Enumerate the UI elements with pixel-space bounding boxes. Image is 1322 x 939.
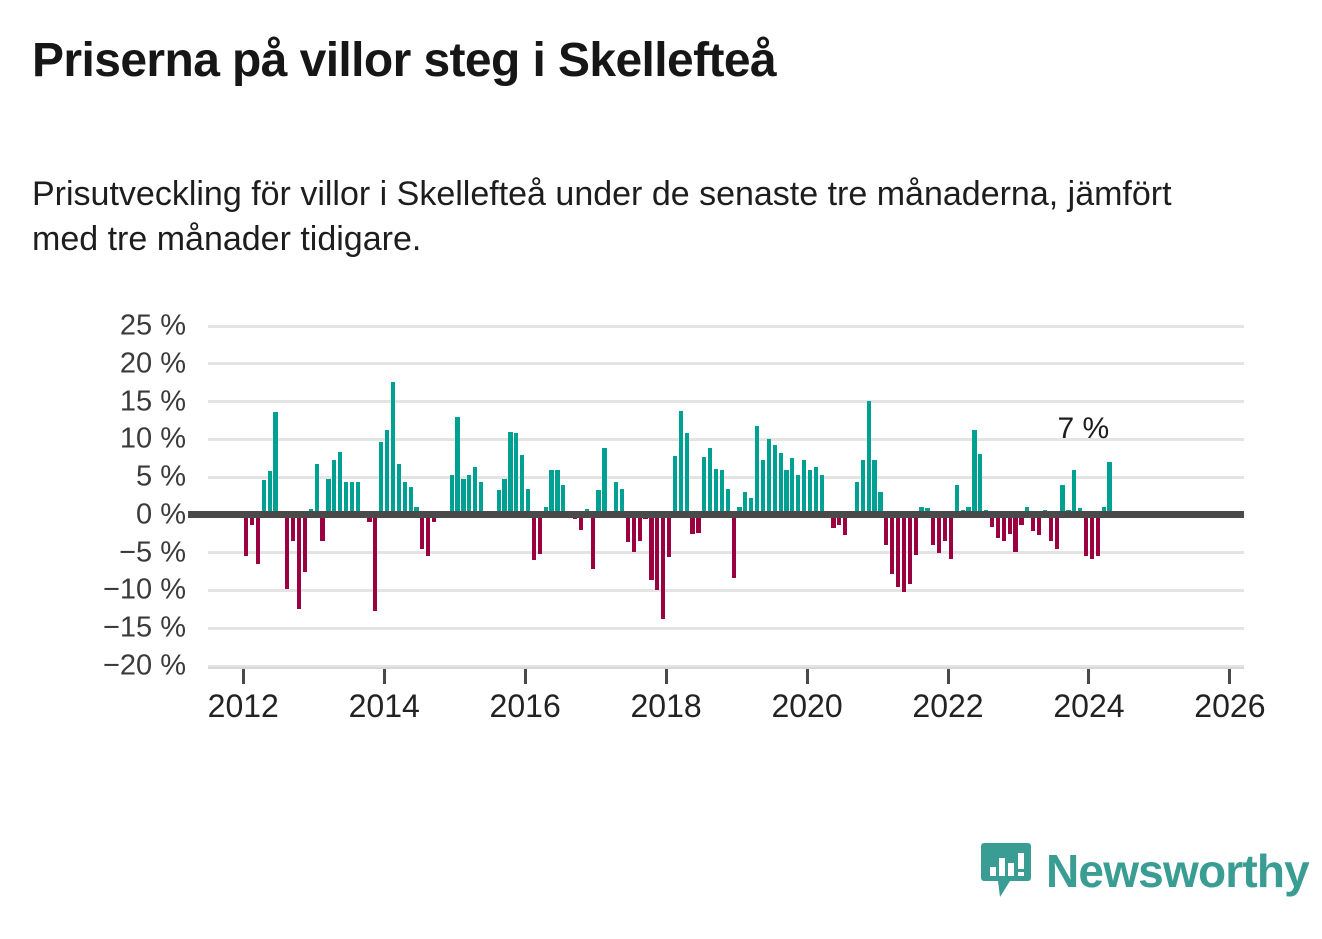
- bar: [420, 515, 424, 549]
- bar: [502, 479, 506, 515]
- x-axis-tick-label: 2026: [1194, 688, 1265, 725]
- bar: [702, 457, 706, 514]
- bar: [403, 482, 407, 514]
- bar: [555, 470, 559, 515]
- bar: [332, 460, 336, 515]
- page-subtitle: Prisutveckling för villor i Skellefteå u…: [32, 172, 1242, 262]
- bar: [450, 475, 454, 515]
- bar: [790, 458, 794, 515]
- bar: [808, 470, 812, 515]
- y-axis-tick-label: −5 %: [0, 536, 186, 569]
- bar: [820, 475, 824, 515]
- page-title: Priserna på villor steg i Skellefteå: [32, 34, 1272, 88]
- bar: [673, 456, 677, 515]
- x-axis-tick-label: 2022: [912, 688, 983, 725]
- bar: [649, 515, 653, 580]
- x-axis-tick: [947, 669, 950, 684]
- x-axis-labels: 20122014201620182020202220242026: [208, 688, 1244, 738]
- bar: [902, 515, 906, 592]
- x-axis-tick: [1087, 669, 1090, 684]
- y-axis-tick-label: 25 %: [0, 310, 186, 343]
- bar: [949, 515, 953, 559]
- bar: [520, 455, 524, 515]
- bar: [861, 460, 865, 514]
- bar: [943, 515, 947, 541]
- bar: [784, 470, 788, 515]
- bar: [291, 515, 295, 541]
- bar: [1049, 515, 1053, 541]
- bar: [1060, 485, 1064, 515]
- bar: [602, 448, 606, 515]
- bar: [972, 430, 976, 515]
- bar: [338, 452, 342, 515]
- bar: [931, 515, 935, 545]
- x-axis-tick: [665, 669, 668, 684]
- bar: [549, 470, 553, 515]
- bar: [479, 482, 483, 515]
- x-axis-tick-label: 2012: [208, 688, 279, 725]
- bar: [514, 433, 518, 515]
- bar: [1096, 515, 1100, 556]
- bar: [508, 432, 512, 515]
- bar: [1002, 515, 1006, 541]
- bar: [890, 515, 894, 574]
- bar: [297, 515, 301, 609]
- newsworthy-logo: Newsworthy: [980, 840, 1309, 902]
- bar: [1013, 515, 1017, 552]
- bar: [1090, 515, 1094, 560]
- x-axis-tick: [383, 669, 386, 684]
- bar: [732, 515, 736, 578]
- bar: [1107, 462, 1111, 515]
- bar-chart: 25 %20 %15 %10 %5 %0 %−5 %−10 %−15 %−20 …: [0, 326, 1322, 736]
- x-axis-tick: [524, 669, 527, 684]
- chart-page: Priserna på villor steg i Skellefteå Pri…: [0, 0, 1322, 939]
- bar: [385, 430, 389, 515]
- x-axis-tick-label: 2024: [1053, 688, 1124, 725]
- bar: [978, 454, 982, 514]
- bar: [391, 382, 395, 515]
- bar: [373, 515, 377, 611]
- y-axis-tick-label: 5 %: [0, 461, 186, 494]
- bar: [802, 460, 806, 515]
- bar: [455, 417, 459, 515]
- zero-axis-line: [188, 511, 1244, 518]
- bar: [350, 482, 354, 515]
- plot-area: [208, 326, 1244, 666]
- bar: [538, 515, 542, 554]
- y-axis-labels: 25 %20 %15 %10 %5 %0 %−5 %−10 %−15 %−20 …: [0, 326, 186, 666]
- bar: [244, 515, 248, 557]
- bar: [344, 482, 348, 514]
- bar: [896, 515, 900, 587]
- bar: [356, 482, 360, 515]
- bar: [655, 515, 659, 591]
- bar: [379, 442, 383, 515]
- bar: [761, 460, 765, 514]
- y-axis-tick-label: −15 %: [0, 612, 186, 645]
- bar: [473, 467, 477, 515]
- bar: [626, 515, 630, 542]
- bar: [256, 515, 260, 564]
- bar: [632, 515, 636, 552]
- y-axis-tick-label: 0 %: [0, 498, 186, 531]
- logo-wordmark: Newsworthy: [1046, 848, 1309, 894]
- bar: [1084, 515, 1088, 557]
- bar: [667, 515, 671, 557]
- y-axis-tick-label: 15 %: [0, 385, 186, 418]
- bar: [303, 515, 307, 572]
- bar: [561, 485, 565, 515]
- x-axis-tick-label: 2020: [771, 688, 842, 725]
- bar: [814, 467, 818, 515]
- bar: [262, 480, 266, 515]
- bar: [315, 464, 319, 515]
- x-axis-tick-label: 2018: [631, 688, 702, 725]
- bar: [884, 515, 888, 545]
- x-axis-ticks: [208, 669, 1244, 685]
- bar: [714, 469, 718, 515]
- x-axis-tick-label: 2016: [490, 688, 561, 725]
- bar: [467, 475, 471, 515]
- bar: [285, 515, 289, 589]
- bar: [720, 470, 724, 515]
- bar: [1055, 515, 1059, 549]
- bar: [708, 448, 712, 514]
- bar: [773, 445, 777, 515]
- x-axis-tick: [1228, 669, 1231, 684]
- chart-bubble-icon: [980, 842, 1032, 900]
- bar: [679, 411, 683, 515]
- bar: [661, 515, 665, 619]
- bar: [914, 515, 918, 555]
- y-axis-tick-label: −10 %: [0, 574, 186, 607]
- last-value-annotation: 7 %: [1058, 412, 1110, 446]
- bar: [855, 482, 859, 514]
- bar: [614, 482, 618, 514]
- bar: [638, 515, 642, 541]
- bar: [426, 515, 430, 556]
- bar: [779, 453, 783, 515]
- bar: [685, 433, 689, 515]
- bar: [908, 515, 912, 584]
- bar: [326, 479, 330, 515]
- bar: [397, 464, 401, 515]
- y-axis-tick-label: 20 %: [0, 347, 186, 380]
- bar: [591, 515, 595, 569]
- bar: [268, 471, 272, 515]
- bar: [796, 475, 800, 515]
- bar: [273, 412, 277, 515]
- bar: [1072, 470, 1076, 515]
- bar: [461, 479, 465, 515]
- bar: [532, 515, 536, 560]
- bar: [872, 460, 876, 514]
- bar: [320, 515, 324, 541]
- x-axis-tick-label: 2014: [349, 688, 420, 725]
- bar-series: [208, 326, 1244, 666]
- y-axis-tick-label: −20 %: [0, 650, 186, 683]
- bar: [937, 515, 941, 553]
- y-axis-tick-label: 10 %: [0, 423, 186, 456]
- x-axis-tick: [806, 669, 809, 684]
- bar: [767, 439, 771, 515]
- bar: [755, 426, 759, 515]
- x-axis-tick: [242, 669, 245, 684]
- bar: [955, 485, 959, 515]
- bar: [867, 401, 871, 515]
